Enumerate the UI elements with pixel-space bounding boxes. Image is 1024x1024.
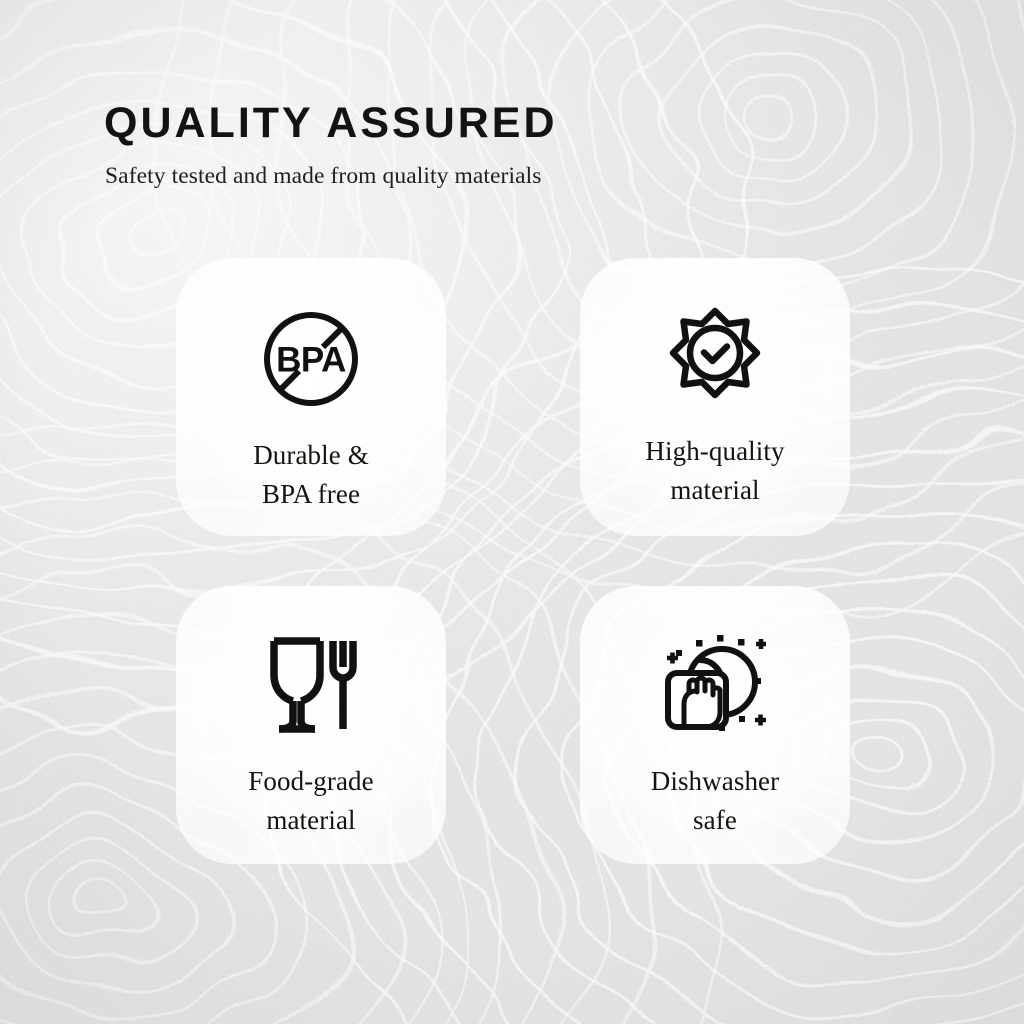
quality-badge-check-icon [665,300,765,418]
feature-label: High-quality material [645,432,784,510]
feature-card-high-quality[interactable]: High-quality material [580,258,850,536]
feature-card-dishwasher-safe[interactable]: Dishwasher safe [580,586,850,864]
feature-label: Dishwasher safe [651,762,779,840]
quality-assured-infographic: QUALITY ASSURED Safety tested and made f… [0,0,1024,1024]
feature-card-food-grade[interactable]: Food-grade material [176,586,446,864]
feature-label: Food-grade material [248,762,373,840]
bpa-icon-text: BPA [276,341,346,380]
food-safe-glass-fork-icon [261,626,361,744]
feature-card-bpa-free[interactable]: BPA Durable & BPA free [176,258,446,536]
dishwasher-safe-icon [659,626,771,744]
header: QUALITY ASSURED Safety tested and made f… [104,99,904,191]
feature-card-grid: BPA Durable & BPA free High-quality mate… [176,258,850,872]
page-subtitle: Safety tested and made from quality mate… [105,161,904,191]
page-title: QUALITY ASSURED [104,99,904,147]
feature-label: Durable & BPA free [253,436,369,514]
bpa-free-icon: BPA [259,300,363,418]
